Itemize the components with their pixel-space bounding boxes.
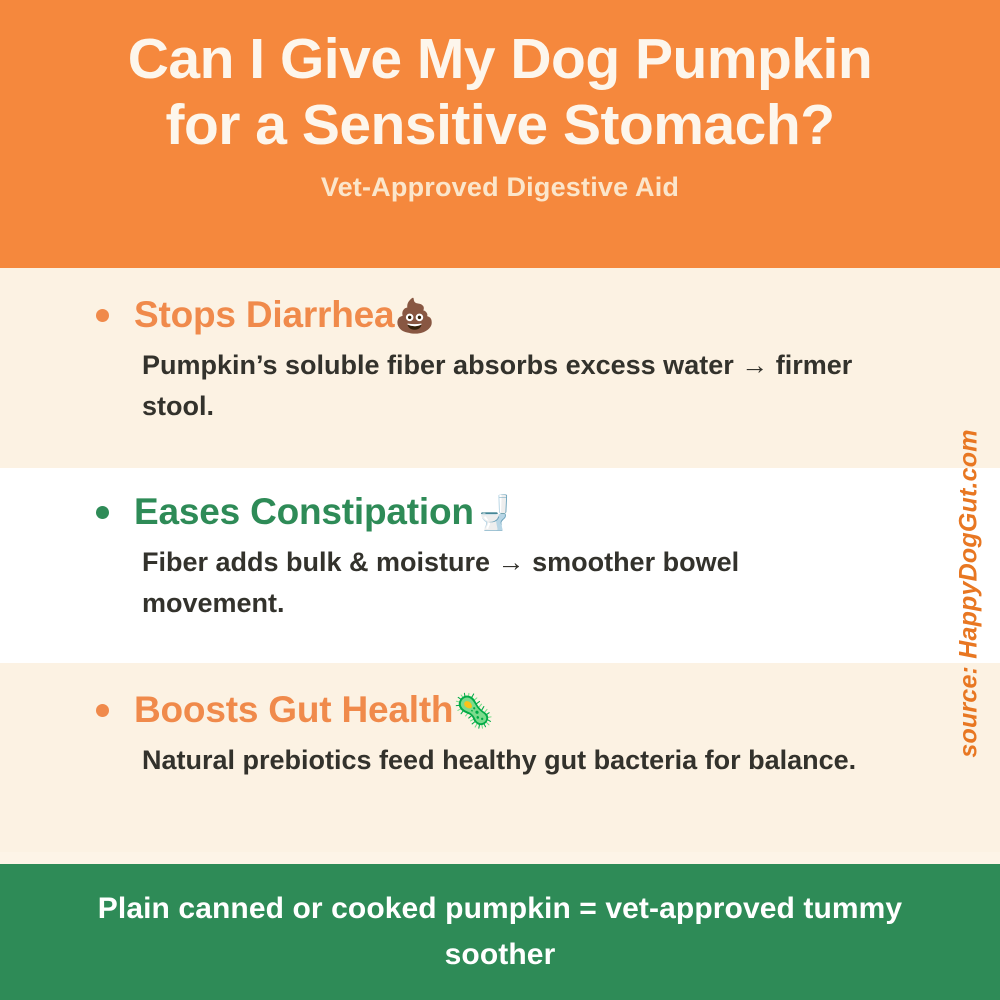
benefit-body-2: Fiber adds bulk & moisture → smoother bo… bbox=[142, 542, 882, 624]
source-watermark: source: HappyDogGut.com bbox=[942, 368, 996, 818]
bullet-dot-icon-1 bbox=[96, 309, 109, 322]
benefit-item-2: Eases Constipation 🚽 Fiber adds bulk & m… bbox=[96, 492, 896, 624]
bullet-dot-icon-3 bbox=[96, 704, 109, 717]
bullet-dot-icon-2 bbox=[96, 506, 109, 519]
footer-takeaway-text: Plain canned or cooked pumpkin = vet-app… bbox=[60, 886, 940, 979]
benefit-body-1: Pumpkin’s soluble fiber absorbs excess w… bbox=[142, 345, 882, 427]
page-subtitle: Vet-Approved Digestive Aid bbox=[40, 172, 960, 203]
infographic-canvas: Can I Give My Dog Pumpkin for a Sensitiv… bbox=[0, 0, 1000, 1000]
footer-banner: Plain canned or cooked pumpkin = vet-app… bbox=[0, 864, 1000, 1000]
source-label: source: HappyDogGut.com bbox=[955, 429, 984, 757]
benefit-heading-1: Stops Diarrhea bbox=[134, 295, 394, 336]
page-title: Can I Give My Dog Pumpkin for a Sensitiv… bbox=[40, 26, 960, 158]
benefit-heading-row-3: Boosts Gut Health 🦠 bbox=[96, 690, 896, 731]
benefit-body-3: Natural prebiotics feed healthy gut bact… bbox=[142, 740, 882, 781]
toilet-emoji: 🚽 bbox=[474, 496, 515, 529]
benefit-heading-row-1: Stops Diarrhea 💩 bbox=[96, 295, 896, 336]
poop-emoji: 💩 bbox=[394, 299, 435, 332]
benefit-heading-2: Eases Constipation bbox=[134, 492, 474, 533]
benefit-item-3: Boosts Gut Health 🦠 Natural prebiotics f… bbox=[96, 690, 896, 781]
microbe-emoji: 🦠 bbox=[453, 694, 494, 727]
benefit-item-1: Stops Diarrhea 💩 Pumpkin’s soluble fiber… bbox=[96, 295, 896, 427]
benefit-heading-3: Boosts Gut Health bbox=[134, 690, 453, 731]
header-banner: Can I Give My Dog Pumpkin for a Sensitiv… bbox=[0, 0, 1000, 268]
benefit-heading-row-2: Eases Constipation 🚽 bbox=[96, 492, 896, 533]
